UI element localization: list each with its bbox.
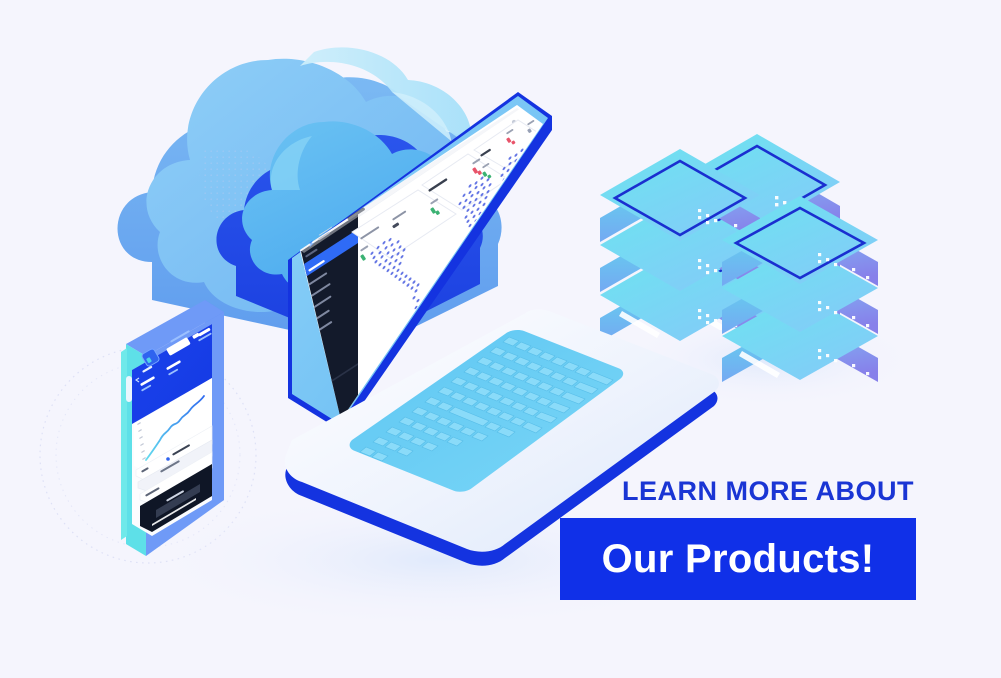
phone-edge — [121, 348, 127, 540]
illustration-canvas: LEARN MORE ABOUT Our Products! — [0, 0, 1001, 678]
phone-side-button[interactable] — [126, 376, 132, 402]
cta-block[interactable]: LEARN MORE ABOUT Our Products! — [560, 478, 916, 600]
cta-button-label: Our Products! — [602, 537, 875, 582]
cta-button[interactable]: Our Products! — [560, 518, 916, 600]
phone-screen — [132, 324, 212, 536]
cta-kicker: LEARN MORE ABOUT — [560, 478, 916, 505]
